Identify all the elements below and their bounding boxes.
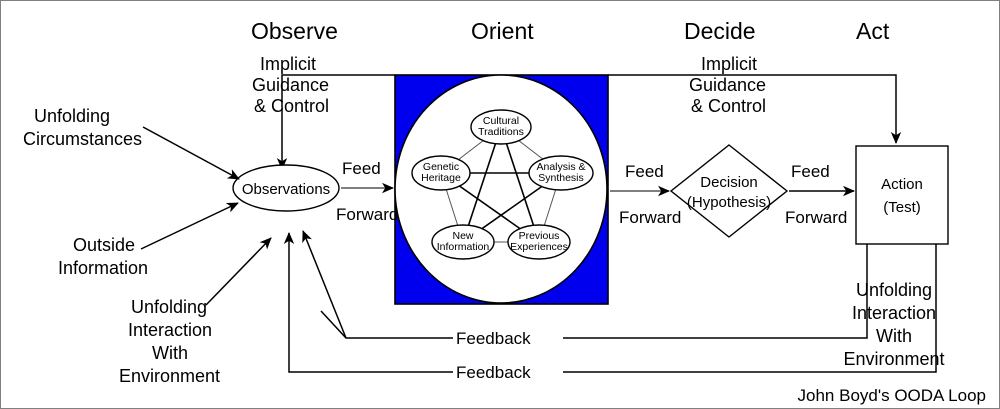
input-outside-information-line2: Information: [58, 258, 148, 278]
phase-title-orient: Orient: [471, 18, 534, 44]
implicit-guidance-left-line2: Guidance: [252, 75, 329, 95]
node-decision-line1: Decision: [700, 174, 758, 191]
feedback-lower-label: Feedback: [456, 363, 531, 382]
output-unfolding-interaction-line4: Environment: [843, 349, 944, 369]
feed-forward-1-line2: Forward: [336, 205, 398, 224]
phase-title-observe: Observe: [251, 18, 338, 44]
implicit-guidance-right-line3: & Control: [691, 96, 766, 116]
orient-node-new-information: New Information: [432, 225, 494, 259]
feedback-upper-arrow-to-observations: [303, 231, 346, 338]
node-action-line1: Action: [881, 176, 923, 193]
arrow-outside-information: [141, 203, 238, 249]
feed-forward-1-line1: Feed: [342, 159, 381, 178]
orient-node-previous-experiences-line2: Experiences: [510, 241, 568, 253]
orient-node-analysis-synthesis-line2: Synthesis: [538, 172, 584, 184]
output-unfolding-interaction-line2: Interaction: [852, 303, 936, 323]
output-unfolding-interaction-line1: Unfolding: [856, 280, 932, 300]
orient-node-cultural-traditions: Cultural Traditions: [471, 110, 531, 144]
node-observations-label: Observations: [242, 181, 330, 198]
input-unfolding-circumstances-line1: Unfolding: [34, 106, 110, 126]
feedback-upper-label: Feedback: [456, 329, 531, 348]
diagram-canvas: Observe Orient Decide Act Implicit Guida…: [1, 1, 1000, 409]
orient-node-previous-experiences: Previous Experiences: [508, 225, 570, 259]
feed-forward-2-line2: Forward: [619, 208, 681, 227]
phase-title-decide: Decide: [684, 18, 756, 44]
orient-node-new-information-line2: Information: [437, 241, 490, 253]
phase-title-act: Act: [856, 18, 890, 44]
node-action-line2: (Test): [883, 199, 921, 216]
implicit-guidance-right-line2: Guidance: [689, 75, 766, 95]
orient-node-genetic-heritage-line2: Heritage: [421, 172, 461, 184]
orient-node-genetic-heritage: Genetic Heritage: [412, 156, 470, 190]
node-observations: Observations: [233, 165, 339, 211]
orient-node-analysis-synthesis: Analysis & Synthesis: [529, 156, 593, 190]
output-unfolding-interaction-line3: With: [876, 326, 912, 346]
input-unfolding-interaction-line4: Environment: [119, 366, 220, 386]
input-outside-information-line1: Outside: [73, 235, 135, 255]
implicit-guidance-left-line1: Implicit: [260, 54, 316, 74]
input-unfolding-interaction-line1: Unfolding: [131, 297, 207, 317]
feed-forward-3-line2: Forward: [785, 208, 847, 227]
node-action: Action (Test): [856, 146, 948, 244]
node-decision-line2: (Hypothesis): [687, 194, 771, 211]
ooda-loop-diagram: Observe Orient Decide Act Implicit Guida…: [0, 0, 1000, 409]
input-unfolding-interaction-line2: Interaction: [128, 320, 212, 340]
feed-forward-2-line1: Feed: [625, 162, 664, 181]
arrow-unfolding-interaction-left: [206, 238, 271, 305]
implicit-guidance-left-line3: & Control: [254, 96, 329, 116]
arrow-unfolding-circumstances: [143, 127, 239, 179]
orient-node-cultural-traditions-line2: Traditions: [478, 126, 524, 138]
node-decision: Decision (Hypothesis): [671, 145, 787, 237]
feed-forward-3-line1: Feed: [791, 162, 830, 181]
input-unfolding-circumstances-line2: Circumstances: [23, 129, 142, 149]
input-unfolding-interaction-line3: With: [152, 343, 188, 363]
implicit-guidance-right-line1: Implicit: [701, 54, 757, 74]
diagram-signature: John Boyd's OODA Loop: [798, 386, 986, 405]
